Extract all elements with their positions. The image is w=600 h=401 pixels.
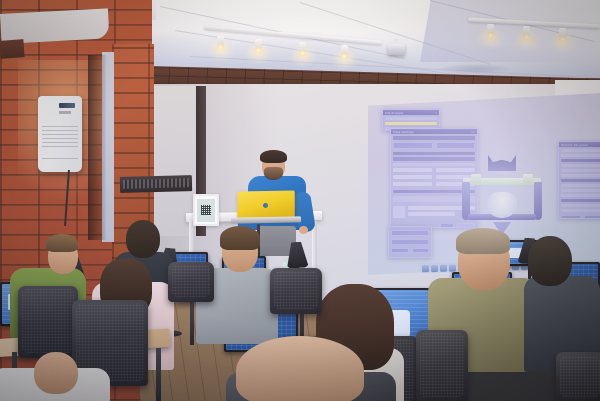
- attendee-green-hoodie-hair: [46, 234, 78, 252]
- presenter-hair: [260, 150, 287, 163]
- projected-window-right-panel: Options list panel: [558, 141, 600, 219]
- desk-leg: [190, 297, 194, 345]
- dialog-section-header: [393, 136, 475, 140]
- keyboard-tray: [120, 175, 192, 193]
- ceiling-spotlight: [341, 45, 348, 56]
- wall-mounted-air-conditioner: [38, 96, 82, 172]
- ceiling-spotlight: [487, 24, 494, 35]
- dock-icon: [449, 264, 456, 271]
- chair: [168, 262, 214, 302]
- ac-logo: [59, 111, 71, 114]
- dock-icon: [422, 265, 429, 272]
- model-jaw-scan: [487, 192, 517, 218]
- chair: [18, 286, 78, 358]
- attendee-bald-foreground-head: [236, 336, 364, 401]
- window-title: Options list panel: [561, 143, 588, 147]
- ceiling-spotlight: [559, 28, 566, 39]
- close-icon: ×: [435, 111, 437, 115]
- dialog-option-button: [393, 142, 433, 149]
- list-item: [385, 117, 437, 120]
- window-title: File browser: [385, 111, 404, 115]
- brick-arch-shadow: [0, 39, 25, 59]
- laptop-base: [231, 216, 301, 223]
- laptop-lid: [237, 190, 294, 219]
- panel-button: [391, 239, 429, 245]
- yellow-laptop[interactable]: [231, 191, 297, 225]
- dialog-option-button: [436, 142, 476, 149]
- presenter-beard: [264, 167, 283, 180]
- ceiling-spotlight: [217, 36, 224, 47]
- desk-leg: [156, 348, 161, 401]
- ceiling-spotlight: [255, 39, 262, 50]
- window-title: Case settings: [393, 130, 414, 134]
- presenter-right-hand: [299, 226, 308, 234]
- chair: [416, 330, 468, 401]
- qr-code-sign: [193, 194, 219, 226]
- panel-button: [391, 230, 429, 236]
- projected-window-bottom-left: [388, 226, 432, 258]
- model-left-pivot: [471, 174, 481, 183]
- qr-code-icon: [201, 205, 211, 215]
- window-controls-icon: ▫▫×: [471, 130, 475, 134]
- ceiling-projector: [388, 44, 405, 55]
- model-right-pivot: [523, 174, 533, 183]
- model-upper-frame: [488, 155, 516, 171]
- attendee-white-shirt-head: [34, 352, 78, 394]
- ac-display-icon: [59, 103, 75, 108]
- dialog-cancel-button: [440, 223, 454, 228]
- attendee-dark-hair-head: [126, 220, 160, 258]
- warning-icon: [393, 206, 405, 218]
- pillar-shadow: [88, 55, 106, 240]
- attendee-olive-shirt-hair: [456, 228, 510, 254]
- attendee-grey-shirt-hair: [220, 226, 260, 250]
- training-room-photo: File browser× Case settings▫▫×: [0, 0, 600, 401]
- ceiling-spotlight: [299, 42, 306, 53]
- list-item-selected: [385, 122, 437, 125]
- chair: [556, 352, 600, 401]
- ceiling-air-vent: [440, 64, 510, 74]
- ceiling-spotlight: [523, 26, 530, 37]
- chair: [270, 268, 322, 314]
- keyboard-keys: [123, 178, 189, 189]
- attendee-dark-hoodie-head: [528, 236, 572, 286]
- dock-icon: [440, 264, 447, 271]
- laptop-logo-icon: [263, 203, 268, 208]
- dock-icon: [431, 264, 438, 271]
